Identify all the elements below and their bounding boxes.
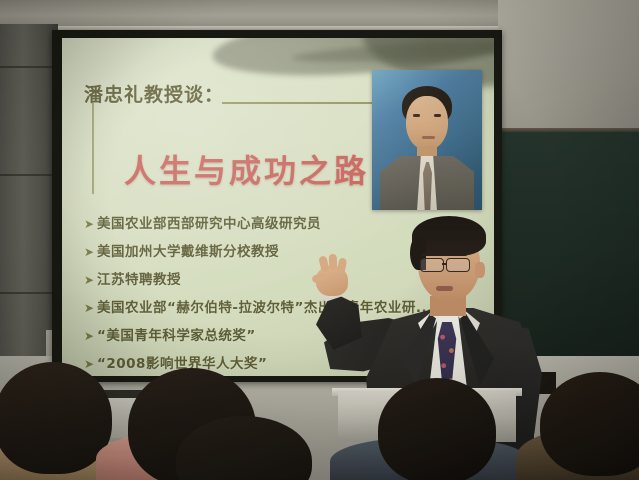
eyeglasses-bridge [442, 263, 447, 265]
bullet-arrow-icon: ➤ [84, 356, 97, 373]
bullet-arrow-icon: ➤ [84, 244, 97, 261]
bullet-arrow-icon: ➤ [84, 328, 97, 345]
slide-title: 人生与成功之路 [124, 146, 369, 192]
lecturer-ear [475, 262, 485, 278]
lecture-hall-photo: 潘忠礼教授谈： 人生与成功之路 ➤ [0, 0, 639, 480]
lecturer-eyebrow-left [421, 253, 441, 256]
lecturer-eyebrow-right [447, 253, 467, 256]
eyeglasses-icon [446, 258, 470, 272]
list-item-label: 美国加州大学戴维斯分校教授 [97, 244, 279, 261]
lecturer-mouth [436, 286, 453, 291]
hand-finger [329, 254, 338, 270]
right-wall [498, 0, 639, 136]
portrait-mouth [422, 136, 435, 139]
portrait-face [406, 96, 448, 150]
eyeglasses-icon [420, 258, 444, 272]
list-item-label: 江苏特聘教授 [97, 272, 181, 289]
bullet-arrow-icon: ➤ [84, 272, 97, 289]
slide-heading: 潘忠礼教授谈： [84, 80, 224, 107]
lecturer-raised-hand [312, 256, 354, 300]
bullet-arrow-icon: ➤ [84, 216, 97, 233]
list-item-label: 美国农业部西部研究中心高级研究员 [97, 216, 321, 233]
heading-vertical-rule [92, 102, 94, 194]
bullet-arrow-icon: ➤ [84, 300, 97, 317]
portrait-photo [372, 70, 482, 210]
audience-head-4 [378, 378, 496, 480]
portrait-eye-right [434, 114, 441, 117]
portrait-eye-left [413, 114, 420, 117]
list-item-label: “美国青年科学家总统奖” [97, 328, 256, 345]
hand-finger [337, 257, 347, 273]
